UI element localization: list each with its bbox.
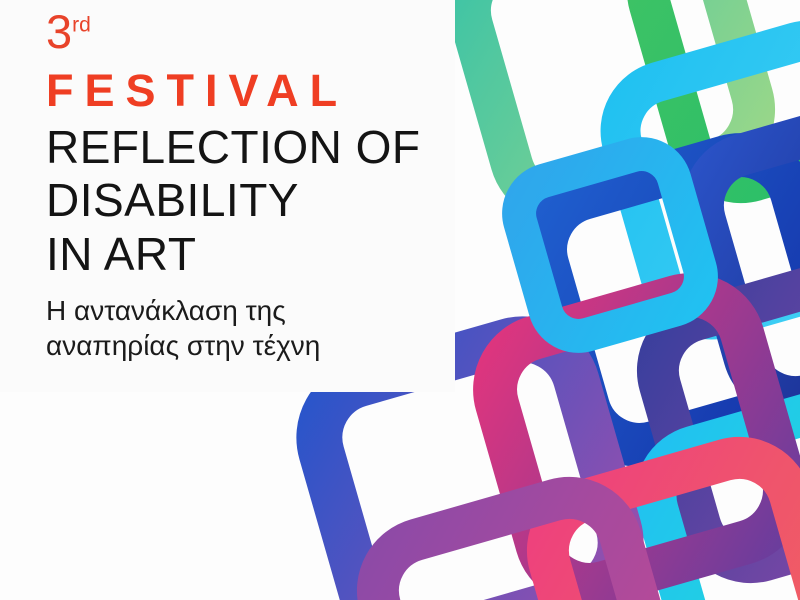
poster-text-block: 3rd FESTIVAL REFLECTION OF DISABILITY IN… [46, 8, 566, 364]
subtitle-line-2: αναπηρίας στην τέχνη [46, 328, 566, 363]
square-sq-violet-low [365, 485, 674, 600]
square-sq-blue-right [690, 100, 800, 409]
square-sq-blue-mid [532, 142, 800, 457]
square-sq-cyan-lower [643, 393, 800, 600]
square-sq-indigo [645, 265, 800, 574]
edition-ordinal: 3rd [46, 8, 566, 66]
square-sq-cyan-upper [608, 28, 800, 331]
title-line-1: REFLECTION OF [46, 121, 566, 174]
edition-number: 3 [46, 5, 72, 58]
title-line-3: IN ART [46, 228, 566, 281]
poster-canvas: 3rd FESTIVAL REFLECTION OF DISABILITY IN… [0, 0, 800, 600]
subtitle-line-1: Η αντανάκλαση της [46, 293, 566, 328]
subtitle-block: Η αντανάκλαση της αναπηρίας στην τέχνη [46, 293, 566, 364]
festival-label: FESTIVAL [46, 68, 566, 113]
title-line-2: DISABILITY [46, 174, 566, 227]
edition-suffix: rd [72, 13, 91, 36]
square-sq-green-right [635, 0, 800, 195]
square-sq-blue-center [306, 326, 634, 600]
square-sq-pink-bottom [535, 445, 800, 600]
